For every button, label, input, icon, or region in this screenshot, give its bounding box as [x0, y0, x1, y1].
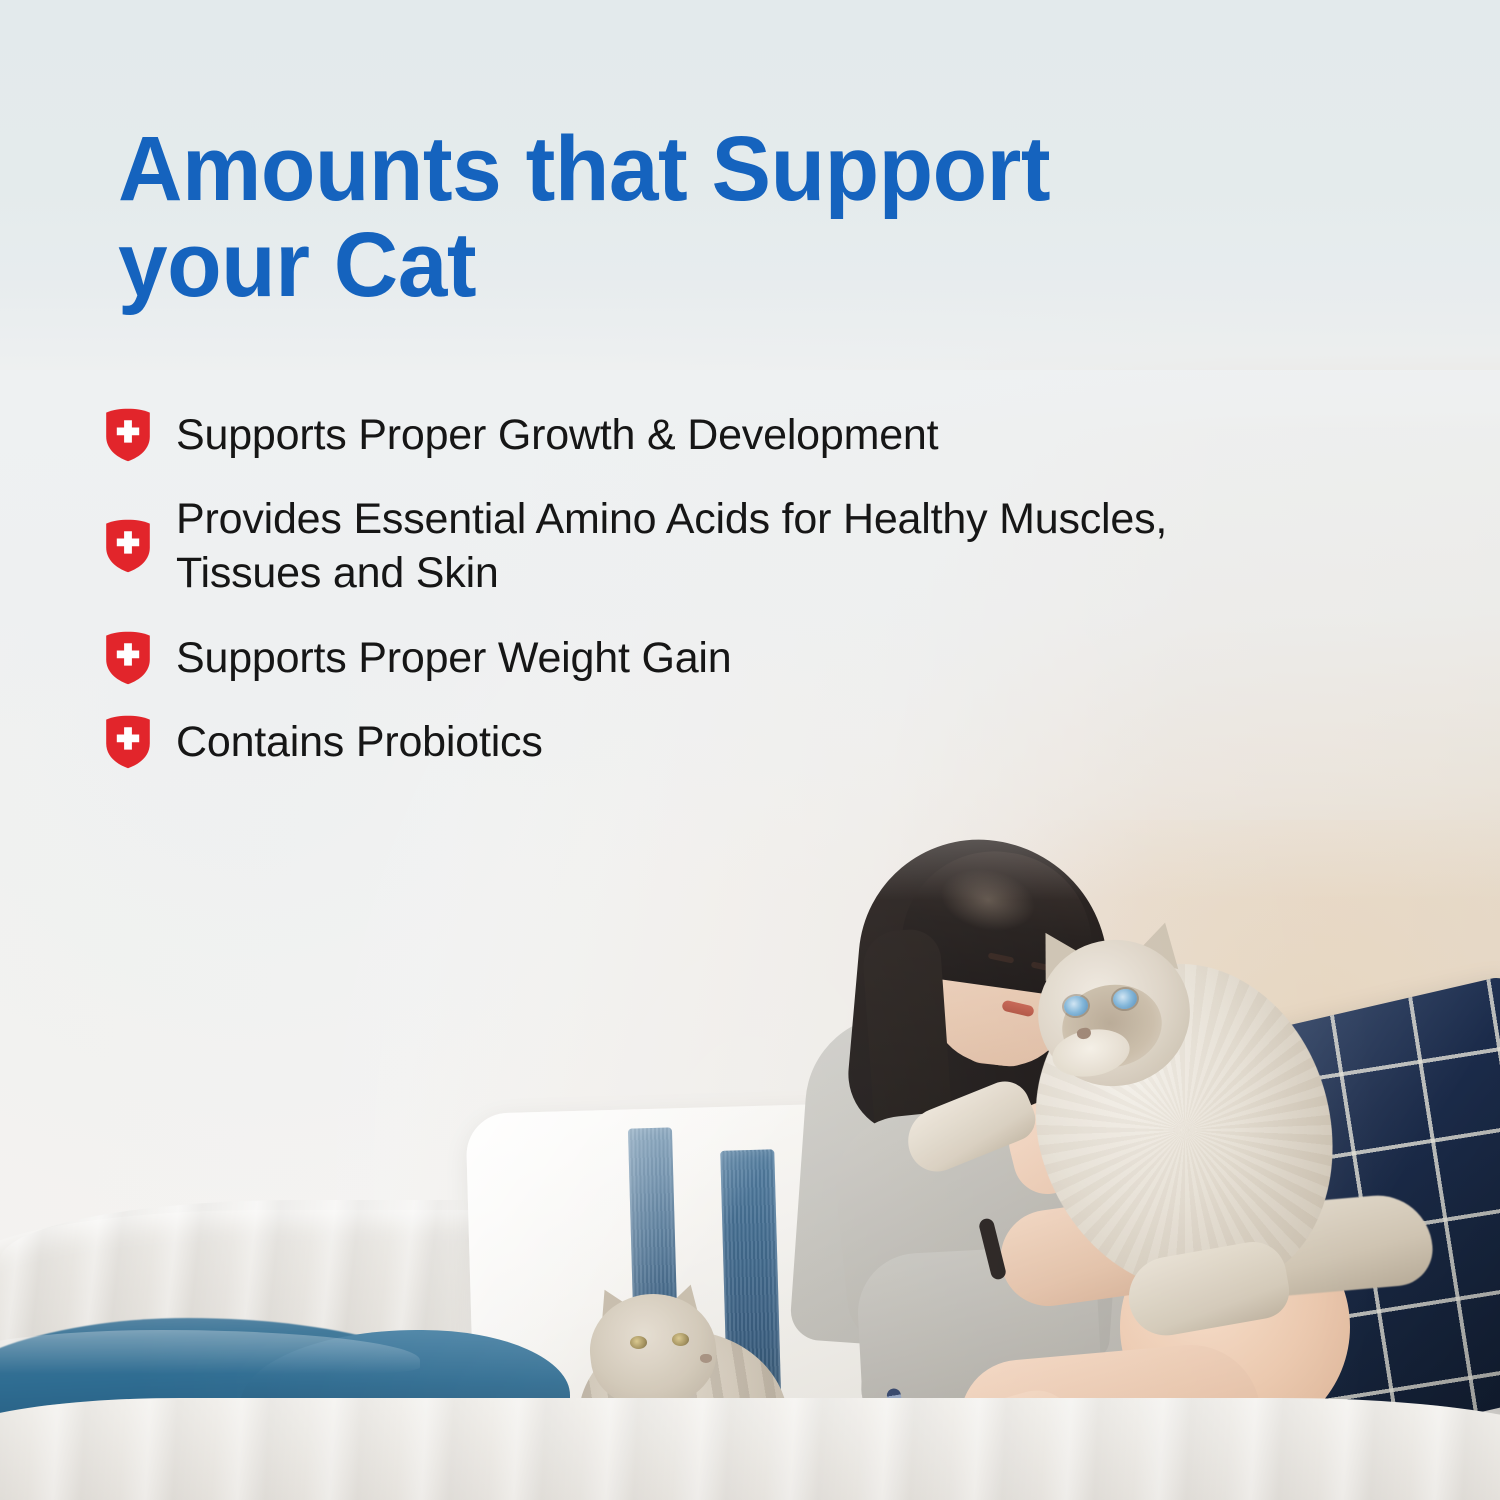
banner-content: Amounts that Supportyour Cat Supports Pr… — [0, 0, 1500, 1500]
headline-line-2: your Cat — [118, 214, 476, 316]
benefit-list: Supports Proper Growth & Development Pro… — [104, 408, 1334, 769]
red-shield-cross-icon — [104, 408, 152, 462]
benefit-label: Contains Probiotics — [176, 715, 543, 769]
list-item: Provides Essential Amino Acids for Healt… — [104, 492, 1334, 600]
product-benefits-banner: Amounts that Supportyour Cat Supports Pr… — [0, 0, 1500, 1500]
headline-line-1: Amounts that Support — [118, 118, 1050, 220]
red-shield-cross-icon — [104, 715, 152, 769]
red-shield-cross-icon — [104, 519, 152, 573]
red-shield-cross-icon — [104, 631, 152, 685]
list-item: Supports Proper Weight Gain — [104, 631, 1334, 685]
list-item: Supports Proper Growth & Development — [104, 408, 1334, 462]
benefit-label: Supports Proper Weight Gain — [176, 631, 732, 685]
list-item: Contains Probiotics — [104, 715, 1334, 769]
benefit-label: Provides Essential Amino Acids for Healt… — [176, 492, 1286, 600]
benefit-label: Supports Proper Growth & Development — [176, 408, 938, 462]
page-title: Amounts that Supportyour Cat — [118, 122, 1311, 313]
